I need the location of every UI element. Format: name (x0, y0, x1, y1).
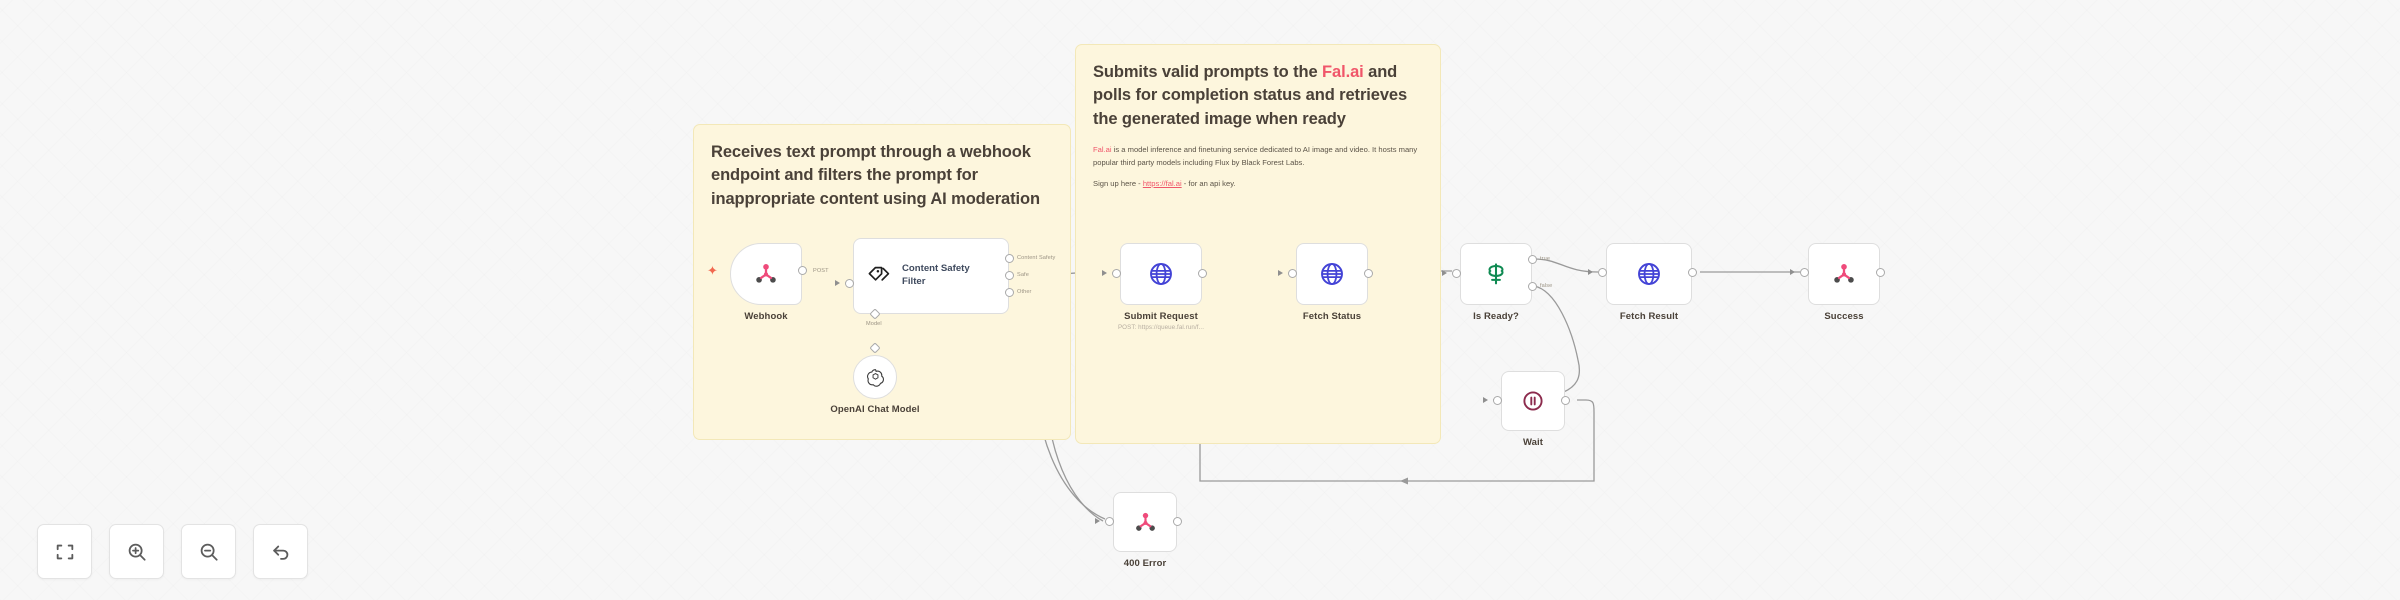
node-submit-request-label: Submit Request (1124, 311, 1198, 322)
port-fetch-status-input[interactable] (1288, 269, 1297, 278)
node-content-safety-filter-label: Content Safety Filter (902, 263, 980, 288)
sticky-title-line: endpoint and filters the prompt for (711, 166, 978, 184)
sticky-note-falai-title: Submits valid prompts to the Fal.ai and … (1093, 61, 1423, 131)
port-is-ready-true[interactable] (1528, 255, 1537, 264)
n8n-respond-icon (1831, 261, 1857, 287)
arrow-into-wait (1483, 397, 1488, 403)
edge-label-is-ready-true: true (1540, 256, 1550, 262)
port-wait-input[interactable] (1493, 396, 1502, 405)
edge-label-content-safety: Content Safety (1017, 255, 1055, 261)
fit-screen-icon (54, 541, 76, 563)
arrow-into-fetch-result (1588, 269, 1593, 275)
edge-label-model: Model (866, 321, 882, 327)
node-fetch-status[interactable]: Fetch Status (1296, 243, 1368, 305)
edge-label-webhook-post: POST (813, 268, 829, 274)
zoom-out-button[interactable] (181, 524, 236, 579)
port-fetch-result-output[interactable] (1688, 268, 1697, 277)
node-webhook-label: Webhook (744, 311, 787, 322)
port-safety-output-other[interactable] (1005, 288, 1014, 297)
node-submit-request[interactable]: Submit Request POST: https://queue.fal.r… (1120, 243, 1202, 305)
zoom-in-button[interactable] (109, 524, 164, 579)
sticky-title-prefix: Submits valid prompts to the (1093, 63, 1322, 81)
port-fetch-result-input[interactable] (1598, 268, 1607, 277)
port-is-ready-input[interactable] (1452, 269, 1461, 278)
sticky-body-text: - for an api key. (1182, 179, 1236, 188)
node-fetch-status-label: Fetch Status (1303, 311, 1361, 322)
port-400-error-output[interactable] (1173, 517, 1182, 526)
sticky-body-paragraph: Sign up here - https://fal.ai - for an a… (1093, 178, 1423, 190)
arrow-into-submit (1102, 270, 1107, 276)
node-400-error[interactable]: 400 Error (1113, 492, 1177, 552)
port-is-ready-false[interactable] (1528, 282, 1537, 291)
port-safety-input[interactable] (845, 279, 854, 288)
globe-icon (1636, 261, 1662, 287)
falai-signup-link[interactable]: https://fal.ai (1143, 179, 1182, 188)
arrow-into-is-ready (1442, 270, 1447, 276)
openai-icon (865, 367, 886, 388)
globe-icon (1148, 261, 1174, 287)
arrow-into-400-error (1095, 518, 1100, 524)
node-400-error-label: 400 Error (1124, 558, 1167, 569)
node-wait-label: Wait (1523, 437, 1543, 448)
node-content-safety-filter[interactable]: Content Safety Filter (853, 238, 1009, 314)
sticky-title-accent: Fal.ai (1322, 63, 1364, 81)
node-webhook[interactable]: Webhook (730, 243, 802, 305)
port-webhook-output[interactable] (798, 266, 807, 275)
node-success[interactable]: Success (1808, 243, 1880, 305)
canvas-zoom-toolbar (37, 524, 308, 579)
sticky-title-line: Receives text prompt through a webhook (711, 143, 1031, 161)
pause-icon (1521, 389, 1545, 413)
add-node-sparkle-icon[interactable]: ✦ (707, 264, 718, 277)
sticky-note-intake-title: Receives text prompt through a webhook e… (711, 141, 1053, 211)
globe-icon (1319, 261, 1345, 287)
reset-zoom-button[interactable] (253, 524, 308, 579)
sticky-title-line: inappropriate content using AI moderatio… (711, 190, 1040, 208)
port-fetch-status-output[interactable] (1364, 269, 1373, 278)
port-wait-output[interactable] (1561, 396, 1570, 405)
n8n-respond-icon (1133, 510, 1158, 535)
sticky-note-falai-body: Fal.ai is a model inference and finetuni… (1093, 144, 1423, 190)
switch-icon (1483, 261, 1509, 287)
sticky-body-text: Sign up here - (1093, 179, 1143, 188)
node-is-ready[interactable]: Is Ready? (1460, 243, 1532, 305)
port-submit-output[interactable] (1198, 269, 1207, 278)
arrow-into-fetch-status (1278, 270, 1283, 276)
node-submit-request-subtitle: POST: https://queue.fal.run/f... (1118, 324, 1204, 331)
port-success-input[interactable] (1800, 268, 1809, 277)
zoom-out-icon (198, 541, 220, 563)
zoom-to-fit-button[interactable] (37, 524, 92, 579)
sticky-body-text: is a model inference and finetuning serv… (1093, 145, 1417, 166)
node-openai-chat-model-label: OpenAI Chat Model (830, 404, 919, 415)
undo-arrow-icon (270, 541, 292, 563)
port-400-error-input[interactable] (1105, 517, 1114, 526)
port-safety-output-safe[interactable] (1005, 271, 1014, 280)
zoom-in-icon (126, 541, 148, 563)
sticky-body-accent: Fal.ai (1093, 145, 1112, 154)
edge-label-safe: Safe (1017, 272, 1029, 278)
node-openai-chat-model[interactable]: OpenAI Chat Model (853, 355, 897, 399)
tags-icon (867, 264, 891, 288)
arrow-into-safety (835, 280, 840, 286)
port-submit-input[interactable] (1112, 269, 1121, 278)
node-wait[interactable]: Wait (1501, 371, 1565, 431)
n8n-webhook-icon (753, 261, 779, 287)
node-is-ready-label: Is Ready? (1473, 311, 1519, 322)
port-success-output[interactable] (1876, 268, 1885, 277)
port-safety-output-content-safety[interactable] (1005, 254, 1014, 263)
node-fetch-result-label: Fetch Result (1620, 311, 1678, 322)
arrow-into-success (1790, 269, 1795, 275)
node-fetch-result[interactable]: Fetch Result (1606, 243, 1692, 305)
edge-label-other: Other (1017, 289, 1032, 295)
edge-label-is-ready-false: false (1540, 283, 1552, 289)
workflow-canvas[interactable]: Receives text prompt through a webhook e… (0, 0, 2400, 600)
sticky-body-paragraph: Fal.ai is a model inference and finetuni… (1093, 144, 1423, 169)
node-success-label: Success (1824, 311, 1863, 322)
